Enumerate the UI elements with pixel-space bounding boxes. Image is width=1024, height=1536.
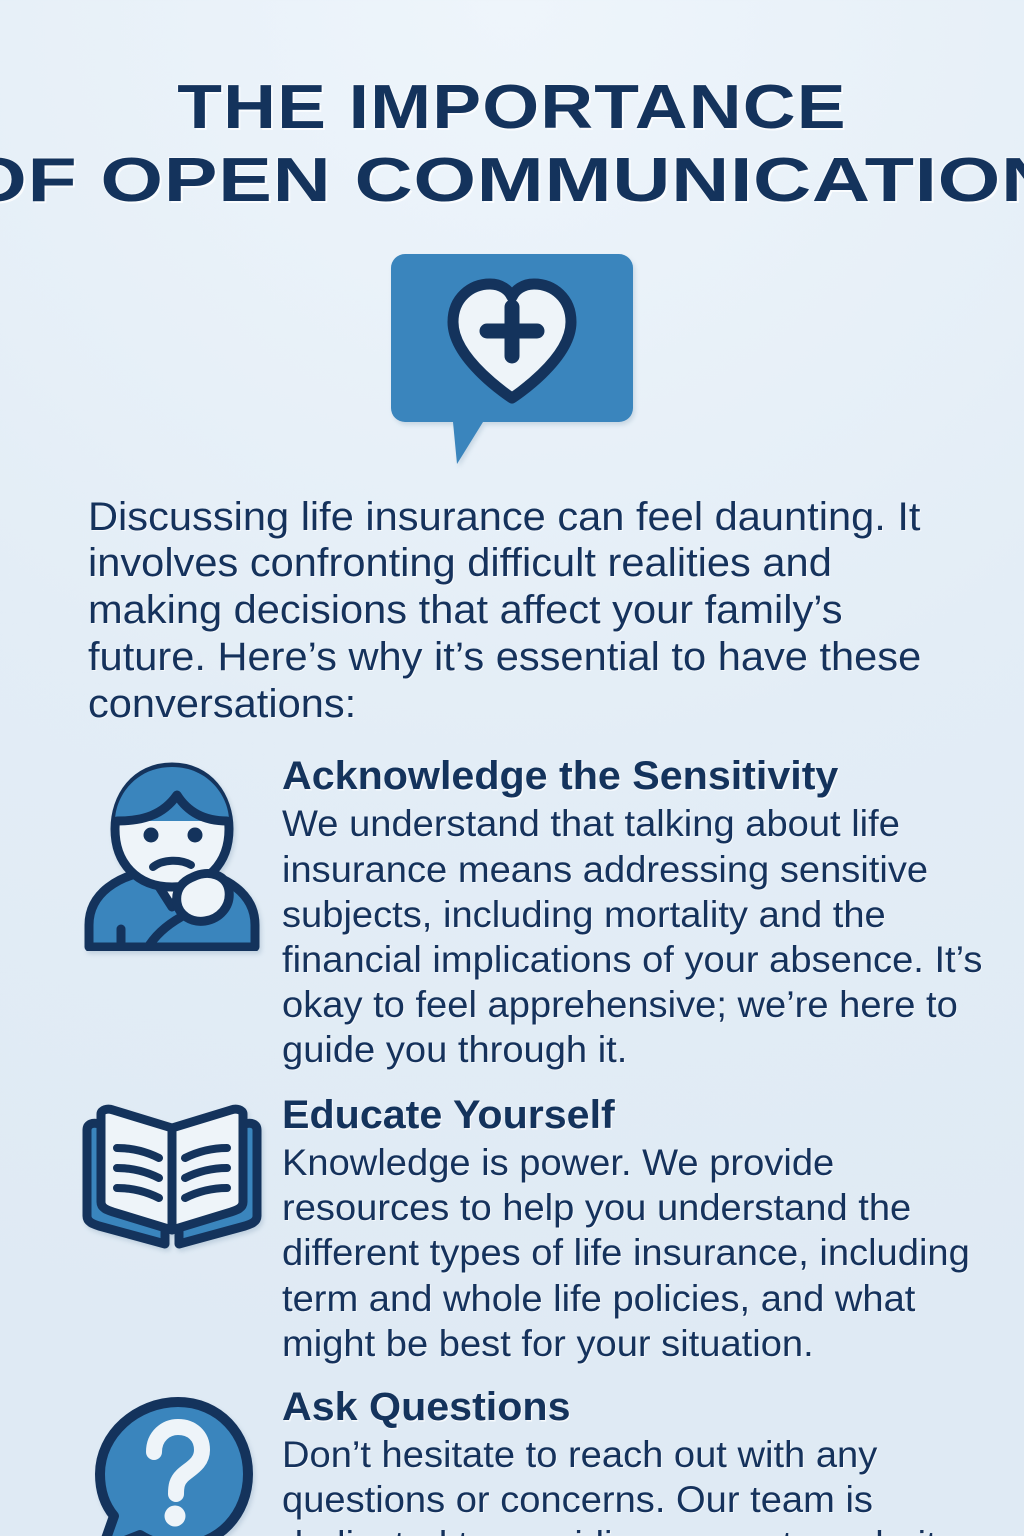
thinking-person-icon xyxy=(81,759,263,951)
section-ask-questions: Ask Questions Don’t hesitate to reach ou… xyxy=(0,1386,1024,1536)
section-educate-yourself: Educate Yourself Knowledge is power. We … xyxy=(0,1094,1024,1366)
page-title-line-1: THE IMPORTANCE xyxy=(0,78,1024,139)
section-icon-container xyxy=(72,755,272,951)
intro-paragraph: Discussing life insurance can feel daunt… xyxy=(88,494,970,728)
infographic-page: THE IMPORTANCE OF OPEN COMMUNICATION Dis… xyxy=(0,0,1024,1536)
section-body: Ask Questions Don’t hesitate to reach ou… xyxy=(272,1386,990,1536)
section-body: Educate Yourself Knowledge is power. We … xyxy=(272,1094,990,1366)
section-heading: Ask Questions xyxy=(282,1386,1011,1428)
section-text: Knowledge is power. We provide resources… xyxy=(282,1140,1011,1366)
section-body: Acknowledge the Sensitivity We understan… xyxy=(272,755,990,1072)
speech-bubble-heart-plus-icon xyxy=(387,250,637,468)
section-heading: Educate Yourself xyxy=(282,1094,1011,1136)
page-title-line-2: OF OPEN COMMUNICATION xyxy=(0,151,1024,212)
page-title: THE IMPORTANCE OF OPEN COMMUNICATION xyxy=(0,0,1024,212)
section-heading: Acknowledge the Sensitivity xyxy=(282,755,1011,797)
section-acknowledge-sensitivity: Acknowledge the Sensitivity We understan… xyxy=(0,755,1024,1072)
section-text: We understand that talking about life in… xyxy=(282,801,1011,1072)
section-icon-container xyxy=(72,1386,272,1536)
section-icon-container xyxy=(72,1094,272,1252)
section-text: Don’t hesitate to reach out with any que… xyxy=(282,1432,1011,1536)
question-mark-bubble-icon xyxy=(88,1394,256,1536)
open-book-icon xyxy=(79,1104,265,1252)
